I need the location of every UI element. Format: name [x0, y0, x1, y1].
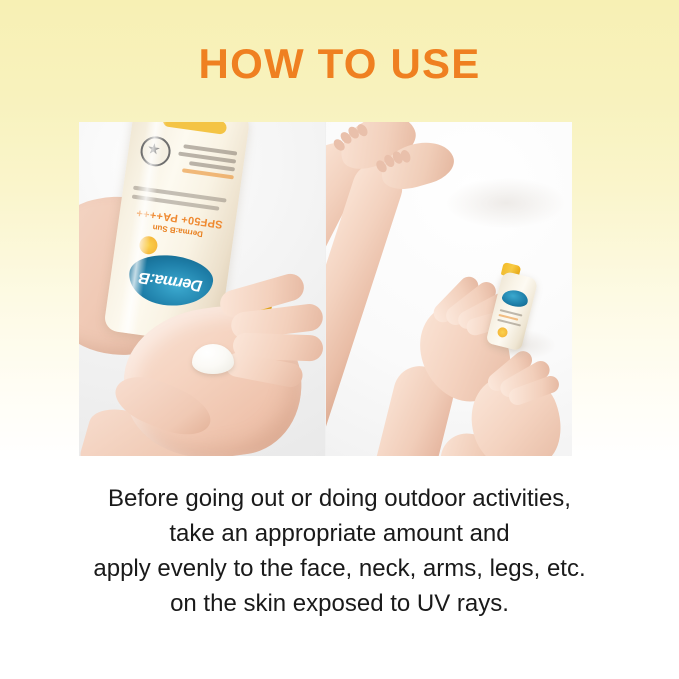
leg-shadow: [446, 178, 566, 228]
photo-dispensing-lotion: SPF50+ PA++++ Derma:B Sun Derma:B: [79, 122, 325, 456]
bottle-brand-name: Derma:B: [138, 267, 204, 294]
photo-applying-to-legs: [325, 122, 573, 456]
instruction-line-1: Before going out or doing outdoor activi…: [0, 481, 679, 516]
instruction-line-4: on the skin exposed to UV rays.: [0, 586, 679, 621]
small-bottle-brand-logo: [500, 287, 529, 309]
lotion-dollop: [192, 344, 234, 374]
bottle-top-stripe: [162, 122, 227, 135]
instruction-line-2: take an appropriate amount and: [0, 516, 679, 551]
how-to-use-panel: HOW TO USE SPF50+ PA++++ Derma:B Sun: [0, 0, 679, 679]
instruction-photo-band: SPF50+ PA++++ Derma:B Sun Derma:B: [79, 122, 572, 456]
sun-icon: [496, 326, 508, 338]
instruction-text: Before going out or doing outdoor activi…: [0, 481, 679, 621]
page-title: HOW TO USE: [0, 41, 679, 87]
instruction-line-3: apply evenly to the face, neck, arms, le…: [0, 551, 679, 586]
